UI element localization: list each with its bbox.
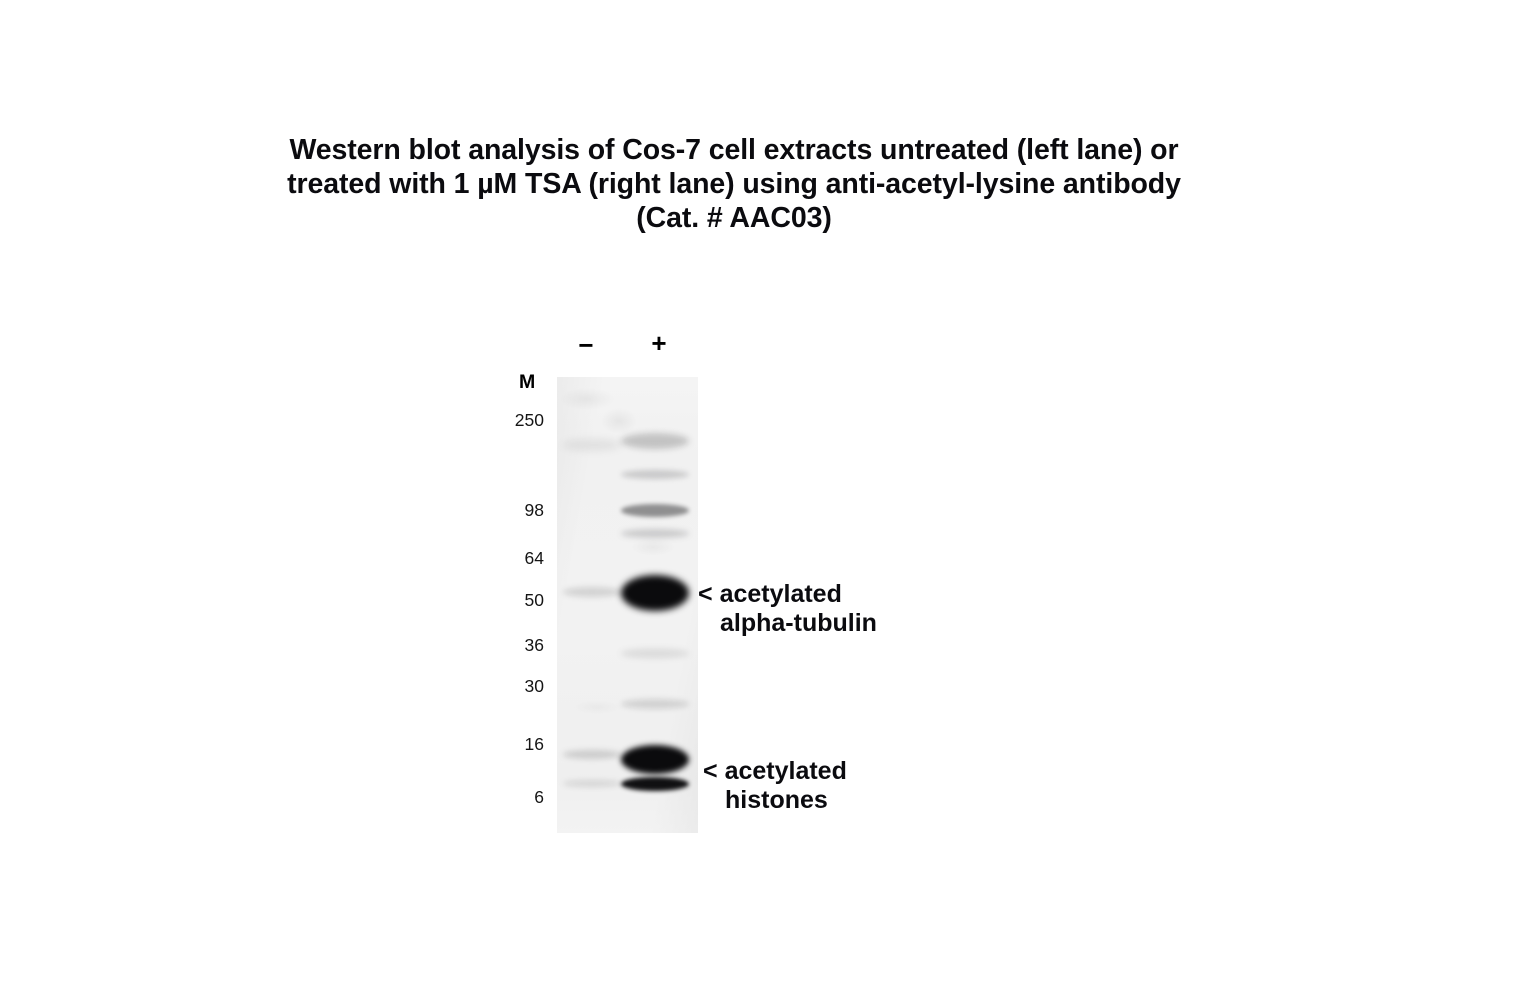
protein-band-faint-high-mw	[563, 439, 621, 451]
protein-band-band-98kDa	[621, 504, 689, 517]
lane-tsa-treated	[615, 377, 695, 833]
blot-membrane	[557, 377, 698, 833]
protein-band-faint-16kDa	[563, 750, 621, 759]
mw-marker-250: 250	[470, 411, 544, 429]
protein-band-acetylated-alpha-tubulin	[621, 575, 689, 611]
annotation-line-2: histones	[703, 786, 847, 815]
protein-band-faint-120kDa	[621, 470, 689, 479]
mw-marker-6: 6	[470, 788, 544, 806]
protein-band-faint-75kDa	[621, 529, 689, 538]
annotation-line-1: acetylated	[720, 580, 842, 608]
molecular-weight-ladder: 2509864503630166	[470, 377, 544, 833]
mw-marker-50: 50	[470, 591, 544, 609]
protein-band-faint-22kDa	[621, 699, 689, 709]
western-blot-figure: − + M 2509864503630166 < acetylated alph…	[0, 0, 1524, 1000]
lane-header-treated: +	[644, 328, 674, 359]
annotation-acetylated-histones: < acetylated histones	[703, 757, 847, 815]
protein-band-faint-30kDa	[621, 649, 689, 658]
protein-band-faint-180kDa	[621, 433, 689, 449]
lane-header-untreated: −	[571, 330, 601, 361]
protein-band-faint-50kDa	[563, 587, 621, 597]
protein-band-faint-8kDa	[563, 780, 621, 787]
mw-marker-30: 30	[470, 677, 544, 695]
annotation-line-1: acetylated	[725, 757, 847, 785]
annotation-line-2: alpha-tubulin	[698, 609, 877, 638]
annotation-arrow-icon: <	[703, 757, 718, 785]
mw-marker-98: 98	[470, 501, 544, 519]
protein-band-acetylated-histones-upper	[621, 745, 689, 774]
annotation-arrow-icon: <	[698, 580, 713, 608]
mw-marker-64: 64	[470, 549, 544, 567]
mw-marker-36: 36	[470, 636, 544, 654]
mw-marker-16: 16	[470, 735, 544, 753]
annotation-acetylated-alpha-tubulin: < acetylated alpha-tubulin	[698, 580, 877, 638]
protein-band-acetylated-histones-lower	[621, 777, 689, 791]
figure-page: Western blot analysis of Cos-7 cell extr…	[0, 0, 1524, 1000]
